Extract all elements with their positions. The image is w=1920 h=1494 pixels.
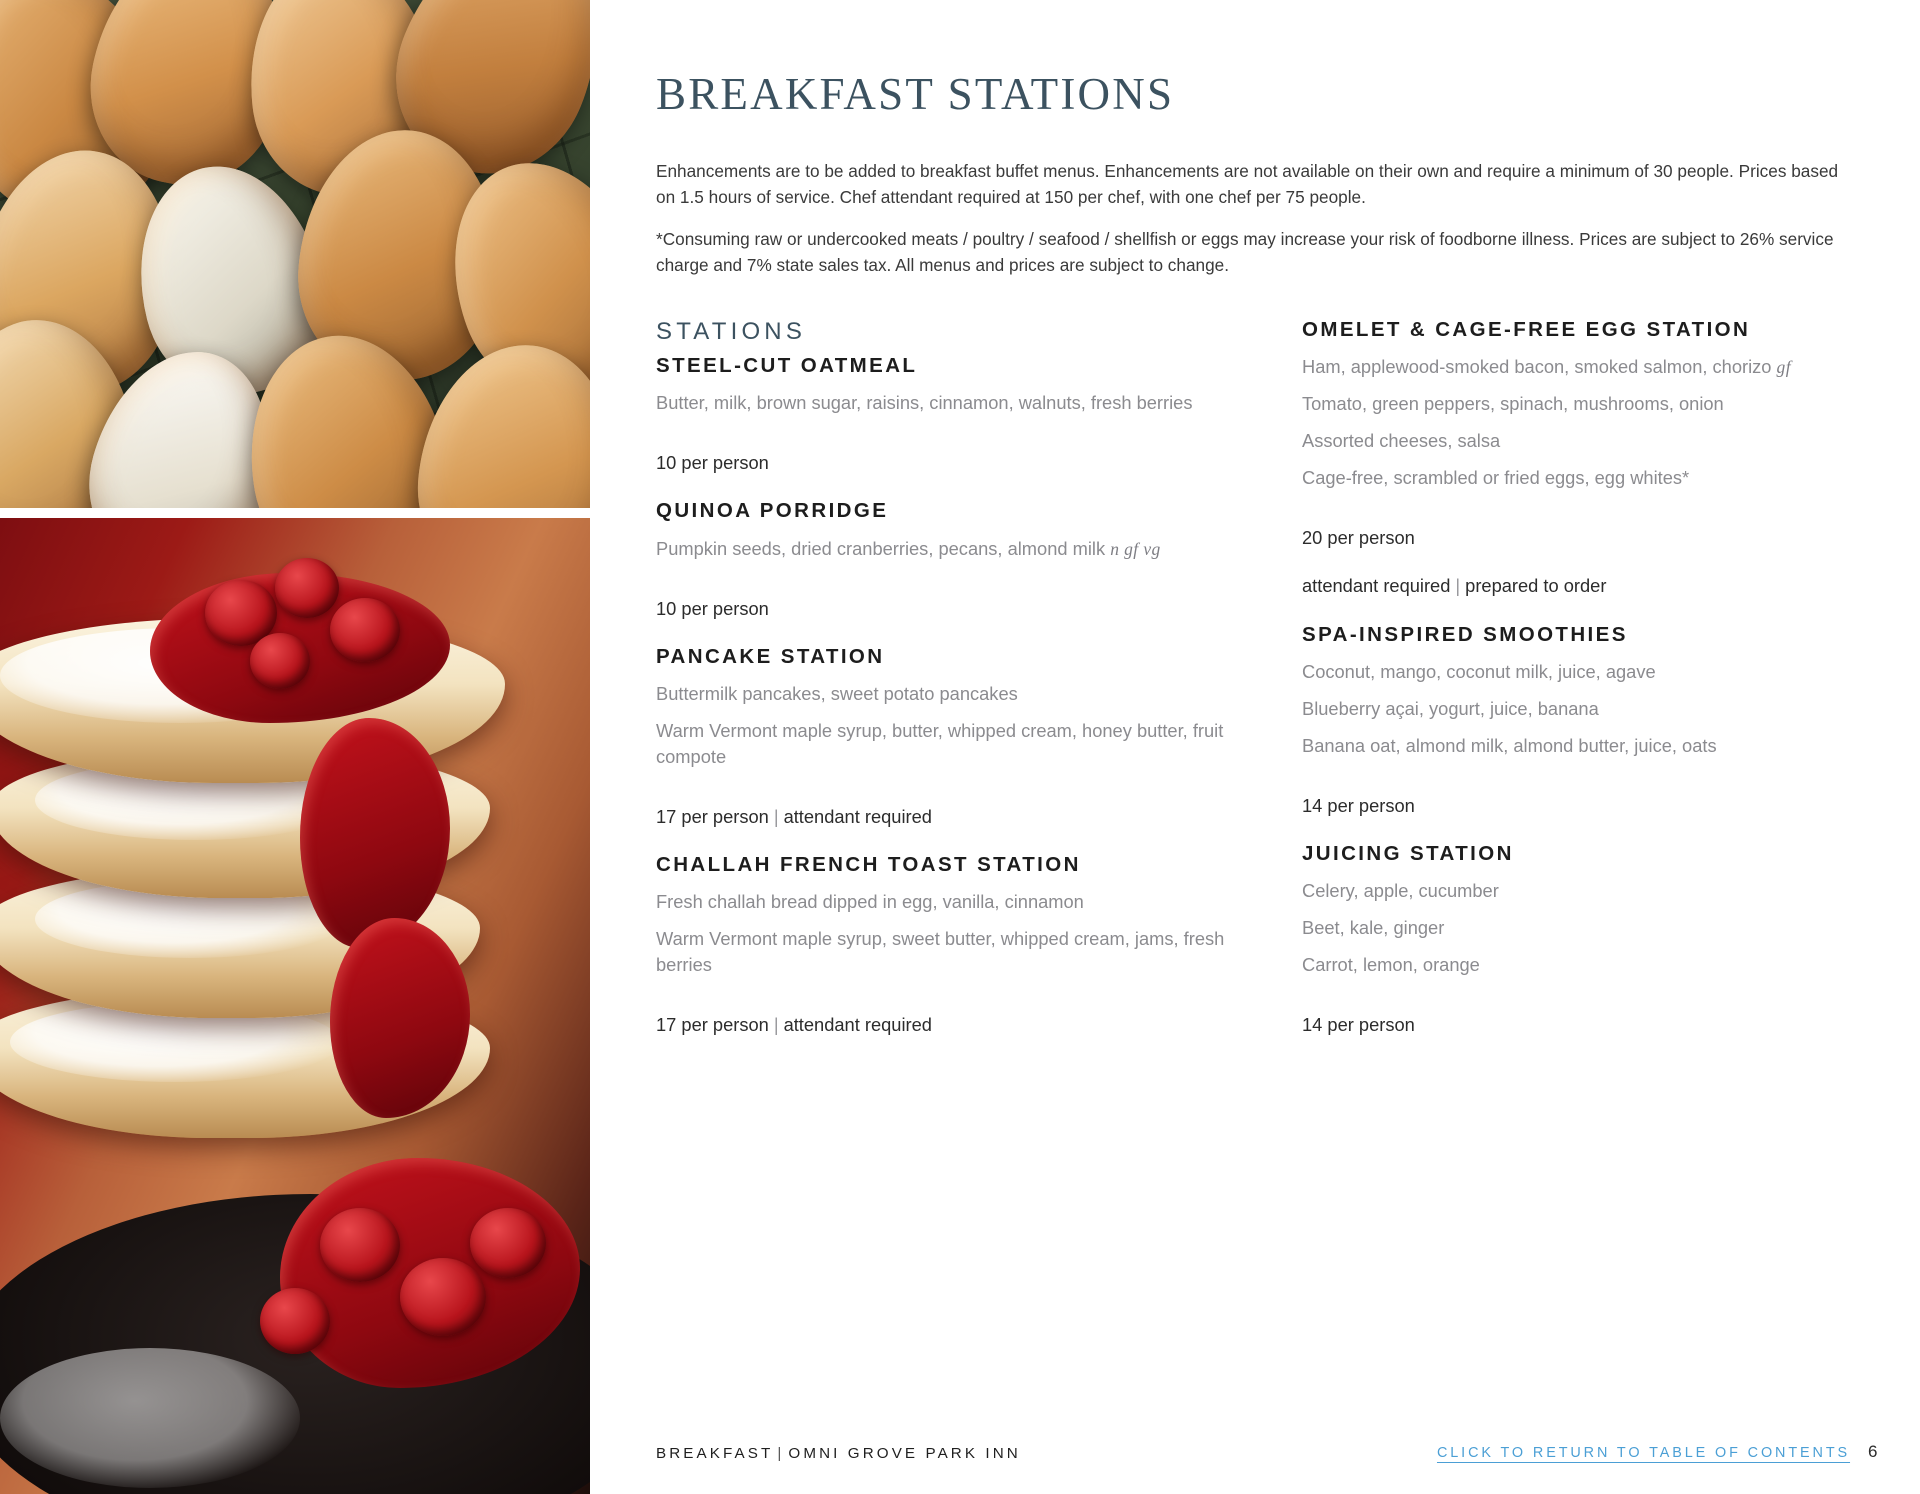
price-value: 10 per person xyxy=(656,598,769,619)
menu-item-description: Celery, apple, cucumber xyxy=(1302,878,1878,904)
price-value: 20 per person xyxy=(1302,527,1415,548)
menu-item-description: Coconut, mango, coconut milk, juice, aga… xyxy=(1302,659,1878,685)
menu-item-description: Cage-free, scrambled or fried eggs, egg … xyxy=(1302,465,1878,491)
menu-item-description: Tomato, green peppers, spinach, mushroom… xyxy=(1302,391,1878,417)
price-value: 17 per person xyxy=(656,1014,769,1035)
menu-item-quinoa-porridge: QUINOA PORRIDGE Pumpkin seeds, dried cra… xyxy=(656,499,1232,620)
intro-paragraph-1: Enhancements are to be added to breakfas… xyxy=(656,158,1852,210)
description-text: Ham, applewood-smoked bacon, smoked salm… xyxy=(1302,356,1771,377)
cherry xyxy=(260,1288,330,1354)
menu-content: BREAKFAST STATIONS Enhancements are to b… xyxy=(590,0,1920,1494)
page-title: BREAKFAST STATIONS xyxy=(656,68,1174,120)
menu-item-spa-inspired-smoothies: SPA-INSPIRED SMOOTHIES Coconut, mango, c… xyxy=(1302,623,1878,818)
section-label-stations: STATIONS xyxy=(656,318,1232,346)
menu-item-title: OMELET & CAGE-FREE EGG STATION xyxy=(1302,318,1878,342)
price-note: attendant required xyxy=(784,806,932,827)
menu-item-price: 14 per person xyxy=(1302,989,1878,1037)
dietary-modifier: n gf vg xyxy=(1110,539,1160,559)
menu-item-price: 17 per person|attendant required xyxy=(656,781,1232,829)
price-note: attendant required xyxy=(784,1014,932,1035)
price-note: attendant required xyxy=(1302,575,1450,596)
menu-item-price: 20 per person attendant required|prepare… xyxy=(1302,502,1878,599)
menu-item-title: STEEL-CUT OATMEAL xyxy=(656,354,1232,378)
menu-item-pancake-station: PANCAKE STATION Buttermilk pancakes, swe… xyxy=(656,645,1232,829)
return-to-table-of-contents-link[interactable]: CLICK TO RETURN TO TABLE OF CONTENTS xyxy=(1437,1445,1850,1461)
price-separator: | xyxy=(769,1014,784,1035)
cherry xyxy=(320,1208,400,1282)
menu-item-description: Pumpkin seeds, dried cranberries, pecans… xyxy=(656,536,1232,562)
cherry xyxy=(250,633,310,689)
menu-item-title: QUINOA PORRIDGE xyxy=(656,499,1232,523)
menu-item-description: Beet, kale, ginger xyxy=(1302,915,1878,941)
page-number: 6 xyxy=(1868,1442,1878,1462)
cherry xyxy=(400,1258,486,1336)
intro-paragraph-2: *Consuming raw or undercooked meats / po… xyxy=(656,226,1852,278)
photo-column xyxy=(0,0,590,1494)
cherry xyxy=(275,558,339,618)
footer-right-group: CLICK TO RETURN TO TABLE OF CONTENTS 6 xyxy=(1437,1442,1878,1462)
menu-item-description: Butter, milk, brown sugar, raisins, cinn… xyxy=(656,390,1232,416)
menu-item-title: CHALLAH FRENCH TOAST STATION xyxy=(656,853,1232,877)
price-note-secondary: prepared to order xyxy=(1465,575,1606,596)
description-text: Pumpkin seeds, dried cranberries, pecans… xyxy=(656,538,1105,559)
menu-column-left: STATIONS STEEL-CUT OATMEAL Butter, milk,… xyxy=(656,318,1232,1038)
price-value: 17 per person xyxy=(656,806,769,827)
menu-item-description: Ham, applewood-smoked bacon, smoked salm… xyxy=(1302,354,1878,380)
menu-item-description: Warm Vermont maple syrup, butter, whippe… xyxy=(656,718,1232,770)
menu-item-challah-french-toast-station: CHALLAH FRENCH TOAST STATION Fresh chall… xyxy=(656,853,1232,1037)
price-value: 14 per person xyxy=(1302,1014,1415,1035)
price-value: 10 per person xyxy=(656,452,769,473)
cherry xyxy=(470,1208,546,1278)
menu-item-price: 17 per person|attendant required xyxy=(656,989,1232,1037)
menu-item-omelet-cage-free-egg-station: OMELET & CAGE-FREE EGG STATION Ham, appl… xyxy=(1302,318,1878,599)
menu-item-juicing-station: JUICING STATION Celery, apple, cucumber … xyxy=(1302,842,1878,1037)
menu-item-description: Banana oat, almond milk, almond butter, … xyxy=(1302,733,1878,759)
menu-item-price: 10 per person xyxy=(656,573,1232,621)
menu-item-price: 14 per person xyxy=(1302,770,1878,818)
menu-item-description: Warm Vermont maple syrup, sweet butter, … xyxy=(656,926,1232,978)
powdered-sugar-dusting xyxy=(0,1348,300,1488)
footer-separator: | xyxy=(773,1445,788,1462)
menu-page: BREAKFAST STATIONS Enhancements are to b… xyxy=(0,0,1920,1494)
menu-column-right: OMELET & CAGE-FREE EGG STATION Ham, appl… xyxy=(1302,318,1878,1038)
footer-property-label: OMNI GROVE PARK INN xyxy=(788,1445,1020,1462)
menu-item-steel-cut-oatmeal: STEEL-CUT OATMEAL Butter, milk, brown su… xyxy=(656,354,1232,475)
photo-eggs-in-basket xyxy=(0,0,590,508)
menu-item-description: Blueberry açai, yogurt, juice, banana xyxy=(1302,696,1878,722)
price-value: 14 per person xyxy=(1302,795,1415,816)
menu-item-title: SPA-INSPIRED SMOOTHIES xyxy=(1302,623,1878,647)
menu-item-title: PANCAKE STATION xyxy=(656,645,1232,669)
menu-item-description: Buttermilk pancakes, sweet potato pancak… xyxy=(656,681,1232,707)
menu-item-description: Carrot, lemon, orange xyxy=(1302,952,1878,978)
menu-item-title: JUICING STATION xyxy=(1302,842,1878,866)
dietary-modifier: gf xyxy=(1777,357,1791,377)
price-separator: | xyxy=(1450,575,1465,596)
footer-breadcrumb: BREAKFAST|OMNI GROVE PARK INN xyxy=(656,1445,1021,1462)
page-footer: BREAKFAST|OMNI GROVE PARK INN CLICK TO R… xyxy=(590,1402,1920,1494)
menu-columns: STATIONS STEEL-CUT OATMEAL Butter, milk,… xyxy=(656,318,1878,1038)
footer-section-label: BREAKFAST xyxy=(656,1445,773,1462)
menu-item-description: Assorted cheeses, salsa xyxy=(1302,428,1878,454)
cherry xyxy=(330,598,400,662)
photo-pancake-stack-with-cherry-compote xyxy=(0,518,590,1494)
menu-item-price: 10 per person xyxy=(656,427,1232,475)
menu-item-description: Fresh challah bread dipped in egg, vanil… xyxy=(656,889,1232,915)
price-separator: | xyxy=(769,806,784,827)
